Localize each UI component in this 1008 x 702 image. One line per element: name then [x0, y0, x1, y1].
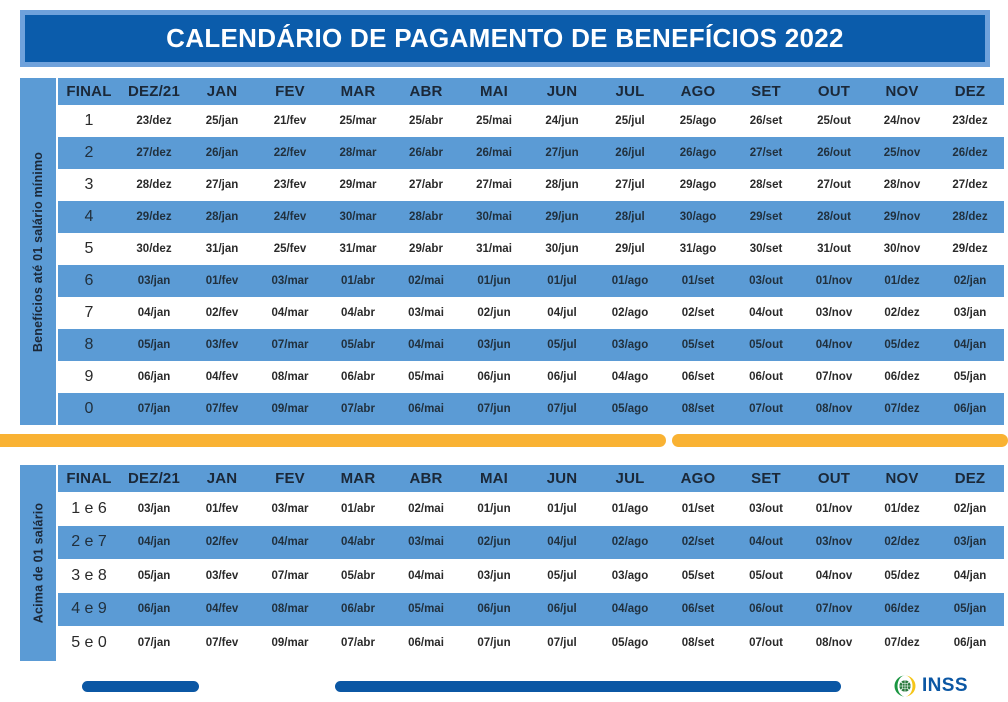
payment-date-cell: 07/nov: [800, 361, 868, 393]
section-2-side-label: Acima de 01 salário: [20, 465, 56, 661]
payment-date-cell: 08/nov: [800, 626, 868, 660]
payment-date-cell: 04/ago: [596, 593, 664, 627]
payment-date-cell: 02/fev: [188, 526, 256, 560]
payment-date-cell: 25/mai: [460, 105, 528, 137]
payment-date-cell: 25/jul: [596, 105, 664, 137]
payment-date-cell: 03/out: [732, 492, 800, 526]
payment-date-cell: 01/ago: [596, 492, 664, 526]
payment-date-cell: 28/jun: [528, 169, 596, 201]
page-title: CALENDÁRIO DE PAGAMENTO DE BENEFÍCIOS 20…: [166, 23, 844, 54]
payment-date-cell: 06/out: [732, 593, 800, 627]
column-header-ago: AGO: [664, 465, 732, 492]
payment-date-cell: 03/jan: [936, 526, 1004, 560]
payment-date-cell: 08/set: [664, 626, 732, 660]
payment-date-cell: 25/out: [800, 105, 868, 137]
payment-date-cell: 03/fev: [188, 559, 256, 593]
payment-date-cell: 03/jan: [120, 492, 188, 526]
table-2-body: 1 e 603/jan01/fev03/mar01/abr02/mai01/ju…: [58, 492, 1004, 660]
payment-date-cell: 23/dez: [120, 105, 188, 137]
payment-date-cell: 04/mar: [256, 526, 324, 560]
payment-date-cell: 05/mai: [392, 361, 460, 393]
payment-date-cell: 07/jun: [460, 393, 528, 425]
payment-date-cell: 06/jan: [120, 593, 188, 627]
payment-date-cell: 23/fev: [256, 169, 324, 201]
row-final-digit: 4: [58, 201, 120, 233]
payment-date-cell: 29/set: [732, 201, 800, 233]
payment-date-cell: 02/dez: [868, 297, 936, 329]
payment-date-cell: 25/jan: [188, 105, 256, 137]
benefits-minimum-wage-section: Benefícios até 01 salário mínimo FINALDE…: [20, 78, 990, 425]
inss-logo-text: INSS: [922, 675, 968, 697]
row-final-digit: 2 e 7: [58, 526, 120, 560]
table-row: 123/dez25/jan21/fev25/mar25/abr25/mai24/…: [58, 105, 1004, 137]
payment-date-cell: 01/ago: [596, 265, 664, 297]
payment-date-cell: 03/ago: [596, 559, 664, 593]
table-2-head: FINALDEZ/21JANFEVMARABRMAIJUNJULAGOSETOU…: [58, 465, 1004, 492]
payment-table-up-to-one-minimum-wage: FINALDEZ/21JANFEVMARABRMAIJUNJULAGOSETOU…: [58, 78, 1004, 425]
row-final-digit: 3: [58, 169, 120, 201]
payment-date-cell: 06/abr: [324, 593, 392, 627]
column-header-jan: JAN: [188, 465, 256, 492]
payment-date-cell: 06/dez: [868, 361, 936, 393]
payment-date-cell: 24/nov: [868, 105, 936, 137]
payment-date-cell: 05/jan: [936, 593, 1004, 627]
payment-date-cell: 29/ago: [664, 169, 732, 201]
payment-date-cell: 31/mar: [324, 233, 392, 265]
column-header-dez-21: DEZ/21: [120, 78, 188, 105]
table-row: 603/jan01/fev03/mar01/abr02/mai01/jun01/…: [58, 265, 1004, 297]
payment-date-cell: 01/jun: [460, 265, 528, 297]
payment-date-cell: 04/out: [732, 297, 800, 329]
payment-date-cell: 29/nov: [868, 201, 936, 233]
payment-date-cell: 03/fev: [188, 329, 256, 361]
payment-date-cell: 04/jul: [528, 297, 596, 329]
column-header-fev: FEV: [256, 465, 324, 492]
column-header-mai: MAI: [460, 78, 528, 105]
table-1-header-row: FINALDEZ/21JANFEVMARABRMAIJUNJULAGOSETOU…: [58, 78, 1004, 105]
payment-date-cell: 26/out: [800, 137, 868, 169]
payment-date-cell: 29/mar: [324, 169, 392, 201]
payment-date-cell: 03/mar: [256, 265, 324, 297]
payment-date-cell: 09/mar: [256, 393, 324, 425]
payment-date-cell: 30/mar: [324, 201, 392, 233]
payment-date-cell: 28/jan: [188, 201, 256, 233]
payment-date-cell: 02/ago: [596, 526, 664, 560]
payment-date-cell: 02/jun: [460, 297, 528, 329]
payment-date-cell: 04/ago: [596, 361, 664, 393]
payment-date-cell: 25/mar: [324, 105, 392, 137]
payment-date-cell: 28/mar: [324, 137, 392, 169]
column-header-mar: MAR: [324, 78, 392, 105]
payment-date-cell: 04/jan: [120, 526, 188, 560]
column-header-mai: MAI: [460, 465, 528, 492]
payment-date-cell: 04/mai: [392, 329, 460, 361]
column-header-jul: JUL: [596, 465, 664, 492]
payment-date-cell: 04/fev: [188, 593, 256, 627]
payment-date-cell: 22/fev: [256, 137, 324, 169]
column-header-abr: ABR: [392, 465, 460, 492]
payment-date-cell: 28/dez: [936, 201, 1004, 233]
row-final-digit: 8: [58, 329, 120, 361]
column-header-ago: AGO: [664, 78, 732, 105]
payment-date-cell: 04/mar: [256, 297, 324, 329]
payment-date-cell: 07/jul: [528, 393, 596, 425]
payment-date-cell: 04/abr: [324, 526, 392, 560]
payment-date-cell: 28/abr: [392, 201, 460, 233]
payment-date-cell: 05/jan: [936, 361, 1004, 393]
payment-date-cell: 09/mar: [256, 626, 324, 660]
payment-date-cell: 07/mar: [256, 329, 324, 361]
column-header-dez-21: DEZ/21: [120, 465, 188, 492]
payment-date-cell: 25/nov: [868, 137, 936, 169]
payment-date-cell: 04/nov: [800, 559, 868, 593]
payment-date-cell: 04/fev: [188, 361, 256, 393]
payment-date-cell: 04/jan: [936, 559, 1004, 593]
payment-date-cell: 05/dez: [868, 559, 936, 593]
column-header-final: FINAL: [58, 465, 120, 492]
payment-date-cell: 30/dez: [120, 233, 188, 265]
payment-date-cell: 05/jul: [528, 329, 596, 361]
payment-date-cell: 07/fev: [188, 393, 256, 425]
payment-date-cell: 05/set: [664, 329, 732, 361]
payment-date-cell: 01/fev: [188, 265, 256, 297]
payment-date-cell: 29/dez: [120, 201, 188, 233]
row-final-digit: 4 e 9: [58, 593, 120, 627]
payment-date-cell: 08/set: [664, 393, 732, 425]
table-1-head: FINALDEZ/21JANFEVMARABRMAIJUNJULAGOSETOU…: [58, 78, 1004, 105]
table-row: 3 e 805/jan03/fev07/mar05/abr04/mai03/ju…: [58, 559, 1004, 593]
inss-logo: INSS: [893, 674, 968, 698]
payment-date-cell: 05/dez: [868, 329, 936, 361]
yellow-divider-bar-left: [0, 434, 666, 447]
payment-date-cell: 01/set: [664, 492, 732, 526]
payment-date-cell: 26/jan: [188, 137, 256, 169]
page-title-banner: CALENDÁRIO DE PAGAMENTO DE BENEFÍCIOS 20…: [20, 10, 990, 67]
payment-date-cell: 05/mai: [392, 593, 460, 627]
payment-date-cell: 03/jun: [460, 559, 528, 593]
payment-date-cell: 02/jun: [460, 526, 528, 560]
row-final-digit: 3 e 8: [58, 559, 120, 593]
payment-date-cell: 04/jan: [936, 329, 1004, 361]
payment-date-cell: 06/jul: [528, 361, 596, 393]
payment-date-cell: 03/jun: [460, 329, 528, 361]
row-final-digit: 2: [58, 137, 120, 169]
table-row: 530/dez31/jan25/fev31/mar29/abr31/mai30/…: [58, 233, 1004, 265]
payment-date-cell: 29/jun: [528, 201, 596, 233]
payment-date-cell: 06/mai: [392, 626, 460, 660]
table-row: 1 e 603/jan01/fev03/mar01/abr02/mai01/ju…: [58, 492, 1004, 526]
payment-date-cell: 30/nov: [868, 233, 936, 265]
payment-date-cell: 07/nov: [800, 593, 868, 627]
payment-date-cell: 05/jan: [120, 559, 188, 593]
payment-date-cell: 31/jan: [188, 233, 256, 265]
section-1-side-label: Benefícios até 01 salário mínimo: [20, 78, 56, 425]
payment-date-cell: 27/out: [800, 169, 868, 201]
column-header-jun: JUN: [528, 465, 596, 492]
payment-date-cell: 26/abr: [392, 137, 460, 169]
table-row: 906/jan04/fev08/mar06/abr05/mai06/jun06/…: [58, 361, 1004, 393]
payment-date-cell: 05/jan: [120, 329, 188, 361]
payment-date-cell: 31/out: [800, 233, 868, 265]
payment-date-cell: 06/set: [664, 593, 732, 627]
payment-date-cell: 03/jan: [120, 265, 188, 297]
benefits-above-minimum-wage-section: Acima de 01 salário FINALDEZ/21JANFEVMAR…: [20, 465, 990, 661]
column-header-out: OUT: [800, 465, 868, 492]
table-row: 328/dez27/jan23/fev29/mar27/abr27/mai28/…: [58, 169, 1004, 201]
payment-date-cell: 27/dez: [936, 169, 1004, 201]
payment-date-cell: 06/mai: [392, 393, 460, 425]
payment-date-cell: 27/jun: [528, 137, 596, 169]
payment-date-cell: 05/ago: [596, 393, 664, 425]
payment-date-cell: 06/jun: [460, 593, 528, 627]
payment-table-above-one-minimum-wage: FINALDEZ/21JANFEVMARABRMAIJUNJULAGOSETOU…: [58, 465, 1004, 660]
payment-date-cell: 30/jun: [528, 233, 596, 265]
payment-date-cell: 25/abr: [392, 105, 460, 137]
column-header-set: SET: [732, 465, 800, 492]
payment-date-cell: 07/out: [732, 393, 800, 425]
payment-date-cell: 28/jul: [596, 201, 664, 233]
payment-date-cell: 21/fev: [256, 105, 324, 137]
table-row: 429/dez28/jan24/fev30/mar28/abr30/mai29/…: [58, 201, 1004, 233]
payment-date-cell: 02/mai: [392, 265, 460, 297]
payment-date-cell: 06/jan: [936, 393, 1004, 425]
payment-date-cell: 03/ago: [596, 329, 664, 361]
payment-date-cell: 31/mai: [460, 233, 528, 265]
table-row: 227/dez26/jan22/fev28/mar26/abr26/mai27/…: [58, 137, 1004, 169]
table-2-header-row: FINALDEZ/21JANFEVMARABRMAIJUNJULAGOSETOU…: [58, 465, 1004, 492]
table-row: 805/jan03/fev07/mar05/abr04/mai03/jun05/…: [58, 329, 1004, 361]
payment-date-cell: 26/jul: [596, 137, 664, 169]
payment-date-cell: 29/dez: [936, 233, 1004, 265]
payment-date-cell: 04/out: [732, 526, 800, 560]
column-header-abr: ABR: [392, 78, 460, 105]
column-header-out: OUT: [800, 78, 868, 105]
payment-date-cell: 02/dez: [868, 526, 936, 560]
payment-date-cell: 06/out: [732, 361, 800, 393]
inss-globe-icon: [893, 674, 917, 698]
column-header-nov: NOV: [868, 465, 936, 492]
payment-date-cell: 23/dez: [936, 105, 1004, 137]
payment-date-cell: 26/set: [732, 105, 800, 137]
payment-date-cell: 02/jan: [936, 265, 1004, 297]
payment-date-cell: 07/abr: [324, 626, 392, 660]
payment-date-cell: 27/jan: [188, 169, 256, 201]
row-final-digit: 6: [58, 265, 120, 297]
payment-date-cell: 07/out: [732, 626, 800, 660]
payment-date-cell: 04/nov: [800, 329, 868, 361]
column-header-jul: JUL: [596, 78, 664, 105]
footer-accent-bar-right: [335, 681, 841, 692]
payment-date-cell: 26/dez: [936, 137, 1004, 169]
column-header-jan: JAN: [188, 78, 256, 105]
payment-date-cell: 08/mar: [256, 593, 324, 627]
column-header-nov: NOV: [868, 78, 936, 105]
payment-date-cell: 30/ago: [664, 201, 732, 233]
payment-date-cell: 05/jul: [528, 559, 596, 593]
payment-date-cell: 04/mai: [392, 559, 460, 593]
payment-date-cell: 27/set: [732, 137, 800, 169]
payment-date-cell: 26/mai: [460, 137, 528, 169]
table-row: 4 e 906/jan04/fev08/mar06/abr05/mai06/ju…: [58, 593, 1004, 627]
payment-date-cell: 07/jan: [120, 626, 188, 660]
table-row: 5 e 007/jan07/fev09/mar07/abr06/mai07/ju…: [58, 626, 1004, 660]
payment-date-cell: 07/fev: [188, 626, 256, 660]
payment-date-cell: 02/fev: [188, 297, 256, 329]
payment-date-cell: 01/abr: [324, 492, 392, 526]
column-header-dez: DEZ: [936, 465, 1004, 492]
payment-date-cell: 03/nov: [800, 297, 868, 329]
payment-date-cell: 05/ago: [596, 626, 664, 660]
payment-date-cell: 24/jun: [528, 105, 596, 137]
payment-date-cell: 03/mai: [392, 526, 460, 560]
payment-date-cell: 03/out: [732, 265, 800, 297]
payment-date-cell: 05/out: [732, 559, 800, 593]
payment-date-cell: 29/jul: [596, 233, 664, 265]
payment-date-cell: 07/jul: [528, 626, 596, 660]
payment-date-cell: 03/mai: [392, 297, 460, 329]
payment-date-cell: 01/jun: [460, 492, 528, 526]
payment-date-cell: 26/ago: [664, 137, 732, 169]
payment-date-cell: 01/set: [664, 265, 732, 297]
table-row: 704/jan02/fev04/mar04/abr03/mai02/jun04/…: [58, 297, 1004, 329]
payment-date-cell: 01/jul: [528, 265, 596, 297]
payment-date-cell: 27/dez: [120, 137, 188, 169]
payment-date-cell: 05/out: [732, 329, 800, 361]
table-row: 007/jan07/fev09/mar07/abr06/mai07/jun07/…: [58, 393, 1004, 425]
payment-date-cell: 02/mai: [392, 492, 460, 526]
payment-date-cell: 31/ago: [664, 233, 732, 265]
payment-date-cell: 25/fev: [256, 233, 324, 265]
payment-date-cell: 01/abr: [324, 265, 392, 297]
column-header-set: SET: [732, 78, 800, 105]
payment-date-cell: 06/jul: [528, 593, 596, 627]
payment-date-cell: 05/abr: [324, 329, 392, 361]
row-final-digit: 9: [58, 361, 120, 393]
payment-date-cell: 02/set: [664, 526, 732, 560]
row-final-digit: 1: [58, 105, 120, 137]
payment-date-cell: 08/nov: [800, 393, 868, 425]
row-final-digit: 5 e 0: [58, 626, 120, 660]
payment-date-cell: 03/jan: [936, 297, 1004, 329]
payment-date-cell: 28/nov: [868, 169, 936, 201]
payment-date-cell: 06/dez: [868, 593, 936, 627]
yellow-divider-group: [0, 434, 1008, 447]
payment-date-cell: 07/dez: [868, 393, 936, 425]
payment-date-cell: 27/mai: [460, 169, 528, 201]
payment-date-cell: 06/abr: [324, 361, 392, 393]
payment-date-cell: 01/jul: [528, 492, 596, 526]
payment-date-cell: 04/abr: [324, 297, 392, 329]
payment-date-cell: 01/dez: [868, 492, 936, 526]
payment-date-cell: 06/set: [664, 361, 732, 393]
yellow-divider-bar-right: [672, 434, 1008, 447]
payment-date-cell: 27/abr: [392, 169, 460, 201]
table-row: 2 e 704/jan02/fev04/mar04/abr03/mai02/ju…: [58, 526, 1004, 560]
payment-date-cell: 06/jun: [460, 361, 528, 393]
payment-date-cell: 24/fev: [256, 201, 324, 233]
column-header-dez: DEZ: [936, 78, 1004, 105]
payment-date-cell: 05/set: [664, 559, 732, 593]
payment-date-cell: 01/dez: [868, 265, 936, 297]
table-1-body: 123/dez25/jan21/fev25/mar25/abr25/mai24/…: [58, 105, 1004, 425]
column-header-jun: JUN: [528, 78, 596, 105]
payment-date-cell: 01/nov: [800, 492, 868, 526]
payment-date-cell: 28/set: [732, 169, 800, 201]
payment-date-cell: 30/set: [732, 233, 800, 265]
payment-date-cell: 29/abr: [392, 233, 460, 265]
payment-date-cell: 25/ago: [664, 105, 732, 137]
payment-date-cell: 02/ago: [596, 297, 664, 329]
payment-date-cell: 04/jan: [120, 297, 188, 329]
payment-date-cell: 07/dez: [868, 626, 936, 660]
payment-date-cell: 07/jun: [460, 626, 528, 660]
payment-date-cell: 02/jan: [936, 492, 1004, 526]
payment-date-cell: 06/jan: [936, 626, 1004, 660]
column-header-final: FINAL: [58, 78, 120, 105]
column-header-fev: FEV: [256, 78, 324, 105]
payment-date-cell: 01/nov: [800, 265, 868, 297]
payment-date-cell: 06/jan: [120, 361, 188, 393]
footer-accent-bar-left: [82, 681, 199, 692]
payment-date-cell: 30/mai: [460, 201, 528, 233]
payment-date-cell: 07/jan: [120, 393, 188, 425]
calendar-page: CALENDÁRIO DE PAGAMENTO DE BENEFÍCIOS 20…: [0, 0, 1008, 702]
payment-date-cell: 04/jul: [528, 526, 596, 560]
payment-date-cell: 02/set: [664, 297, 732, 329]
payment-date-cell: 07/abr: [324, 393, 392, 425]
row-final-digit: 5: [58, 233, 120, 265]
payment-date-cell: 27/jul: [596, 169, 664, 201]
row-final-digit: 0: [58, 393, 120, 425]
column-header-mar: MAR: [324, 465, 392, 492]
payment-date-cell: 03/nov: [800, 526, 868, 560]
row-final-digit: 7: [58, 297, 120, 329]
payment-date-cell: 07/mar: [256, 559, 324, 593]
payment-date-cell: 28/out: [800, 201, 868, 233]
page-title-bar: CALENDÁRIO DE PAGAMENTO DE BENEFÍCIOS 20…: [25, 15, 985, 62]
payment-date-cell: 01/fev: [188, 492, 256, 526]
payment-date-cell: 03/mar: [256, 492, 324, 526]
payment-date-cell: 05/abr: [324, 559, 392, 593]
payment-date-cell: 08/mar: [256, 361, 324, 393]
payment-date-cell: 28/dez: [120, 169, 188, 201]
row-final-digit: 1 e 6: [58, 492, 120, 526]
